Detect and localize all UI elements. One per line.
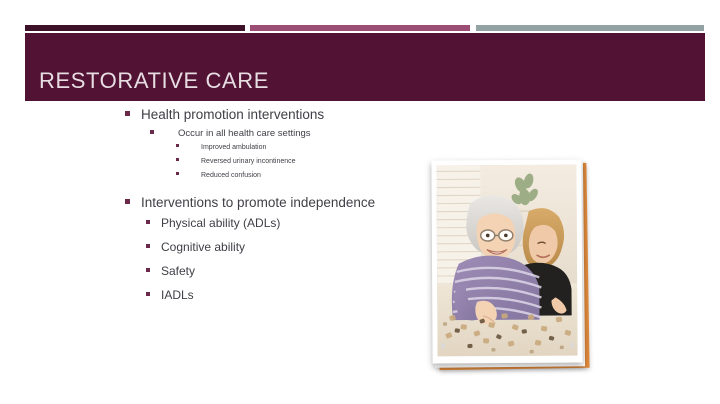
square-bullet-icon (176, 144, 179, 147)
slide-photo (432, 160, 590, 372)
square-bullet-icon (150, 130, 154, 134)
list-item: Cognitive ability (146, 240, 430, 254)
photo-image (436, 165, 577, 357)
square-bullet-icon (146, 268, 150, 272)
list-item-label: Occur in all health care settings (178, 128, 311, 139)
list-item: IADLs (146, 288, 430, 302)
title-band: RESTORATIVE CARE (25, 33, 705, 101)
square-bullet-icon (146, 244, 150, 248)
list-item: Occur in all health care settings (150, 128, 430, 139)
list-item: Reduced confusion (176, 172, 430, 179)
square-bullet-icon (125, 199, 130, 204)
list-item-label: Improved ambulation (201, 144, 266, 151)
list-item-label: Reduced confusion (201, 172, 261, 179)
bullet-list: Health promotion interventions Occur in … (0, 107, 430, 357)
square-bullet-icon (176, 172, 179, 175)
list-item: Health promotion interventions (125, 107, 430, 122)
list-item: Reversed urinary incontinence (176, 158, 430, 165)
accent-bar-gray (476, 25, 704, 31)
header-accent-bars (0, 25, 720, 32)
list-item: Safety (146, 264, 430, 278)
square-bullet-icon (176, 158, 179, 161)
list-item-label: Reversed urinary incontinence (201, 158, 296, 165)
square-bullet-icon (146, 292, 150, 296)
photo-card (431, 160, 582, 364)
list-item-label: Health promotion interventions (141, 107, 324, 122)
list-item-label: Safety (161, 264, 195, 278)
list-item: Interventions to promote independence (125, 195, 430, 210)
photo-corner-mark-right (570, 343, 573, 348)
list-item-label: Interventions to promote independence (141, 195, 375, 210)
list-item-label: Cognitive ability (161, 240, 245, 254)
page-title: RESTORATIVE CARE (39, 68, 269, 94)
square-bullet-icon (146, 220, 150, 224)
slide-canvas: RESTORATIVE CARE Health promotion interv… (0, 0, 720, 404)
list-item: Physical ability (ADLs) (146, 216, 430, 230)
accent-bar-dark (25, 25, 245, 31)
square-bullet-icon (125, 111, 130, 116)
list-item-label: Physical ability (ADLs) (161, 216, 280, 230)
photo-corner-mark-left (441, 343, 444, 348)
list-item-label: IADLs (161, 288, 194, 302)
accent-bar-mid (250, 25, 470, 31)
puzzle-activity-photo-illustration (436, 165, 577, 357)
list-item: Improved ambulation (176, 144, 430, 151)
